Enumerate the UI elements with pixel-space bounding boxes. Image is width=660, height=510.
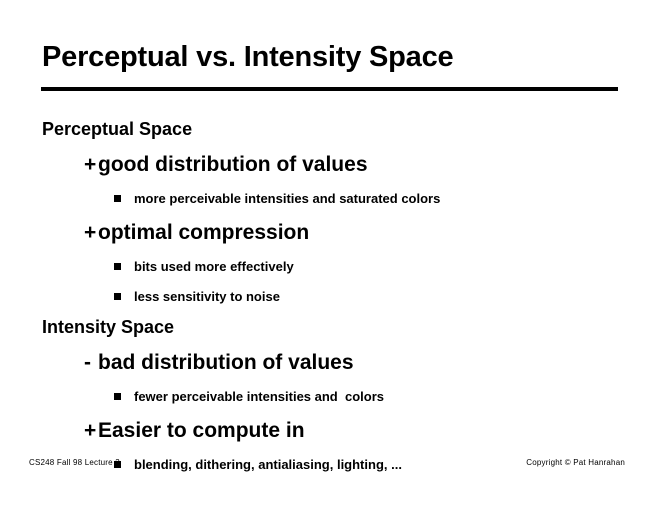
- footer-course-label: CS248 Fall 98 Lecture 3: [29, 458, 120, 467]
- outline-item-label: fewer perceivable intensities and colors: [134, 388, 384, 405]
- outline-item-level1: Perceptual Space: [42, 113, 660, 145]
- outline-marker-glyph: +: [84, 152, 98, 177]
- square-bullet-icon: [114, 195, 121, 202]
- outline-marker-glyph: +: [84, 418, 98, 443]
- outline-item-label: optimal compression: [98, 221, 309, 244]
- outline-item-label: blending, dithering, antialiasing, light…: [134, 456, 402, 473]
- outline-item-level2: +good distribution of values: [84, 145, 660, 183]
- outline-item-level3: less sensitivity to noise: [114, 281, 660, 311]
- outline-item-label: good distribution of values: [98, 153, 368, 176]
- outline-item-level3: fewer perceivable intensities and colors: [114, 381, 660, 411]
- title-underline-rule: [41, 87, 618, 91]
- outline-item-level2: +Easier to compute in: [84, 411, 660, 449]
- outline-item-level3: bits used more effectively: [114, 251, 660, 281]
- outline-item-level2: +optimal compression: [84, 213, 660, 251]
- outline-item-level1: Intensity Space: [42, 311, 660, 343]
- outline-item-label: bad distribution of values: [98, 351, 354, 374]
- outline-item-label: bits used more effectively: [134, 258, 294, 275]
- outline-item-label: Easier to compute in: [98, 419, 305, 442]
- outline-marker-glyph: +: [84, 220, 98, 245]
- outline-item-label: less sensitivity to noise: [134, 288, 280, 305]
- square-bullet-icon: [114, 263, 121, 270]
- outline-item-label: more perceivable intensities and saturat…: [134, 190, 440, 207]
- title-block: Perceptual vs. Intensity Space: [42, 42, 622, 72]
- outline-item-level3: more perceivable intensities and saturat…: [114, 183, 660, 213]
- square-bullet-icon: [114, 293, 121, 300]
- outline-item-label: Perceptual Space: [42, 119, 192, 139]
- footer-copyright-label: Copyright © Pat Hanrahan: [526, 458, 625, 467]
- outline-marker-glyph: -: [84, 350, 98, 375]
- slide-canvas: Perceptual vs. Intensity Space Perceptua…: [0, 0, 660, 510]
- slide-body-outline: Perceptual Space+good distribution of va…: [0, 113, 660, 479]
- page-title: Perceptual vs. Intensity Space: [42, 42, 622, 72]
- outline-item-label: Intensity Space: [42, 317, 174, 337]
- square-bullet-icon: [114, 393, 121, 400]
- outline-item-level2: -bad distribution of values: [84, 343, 660, 381]
